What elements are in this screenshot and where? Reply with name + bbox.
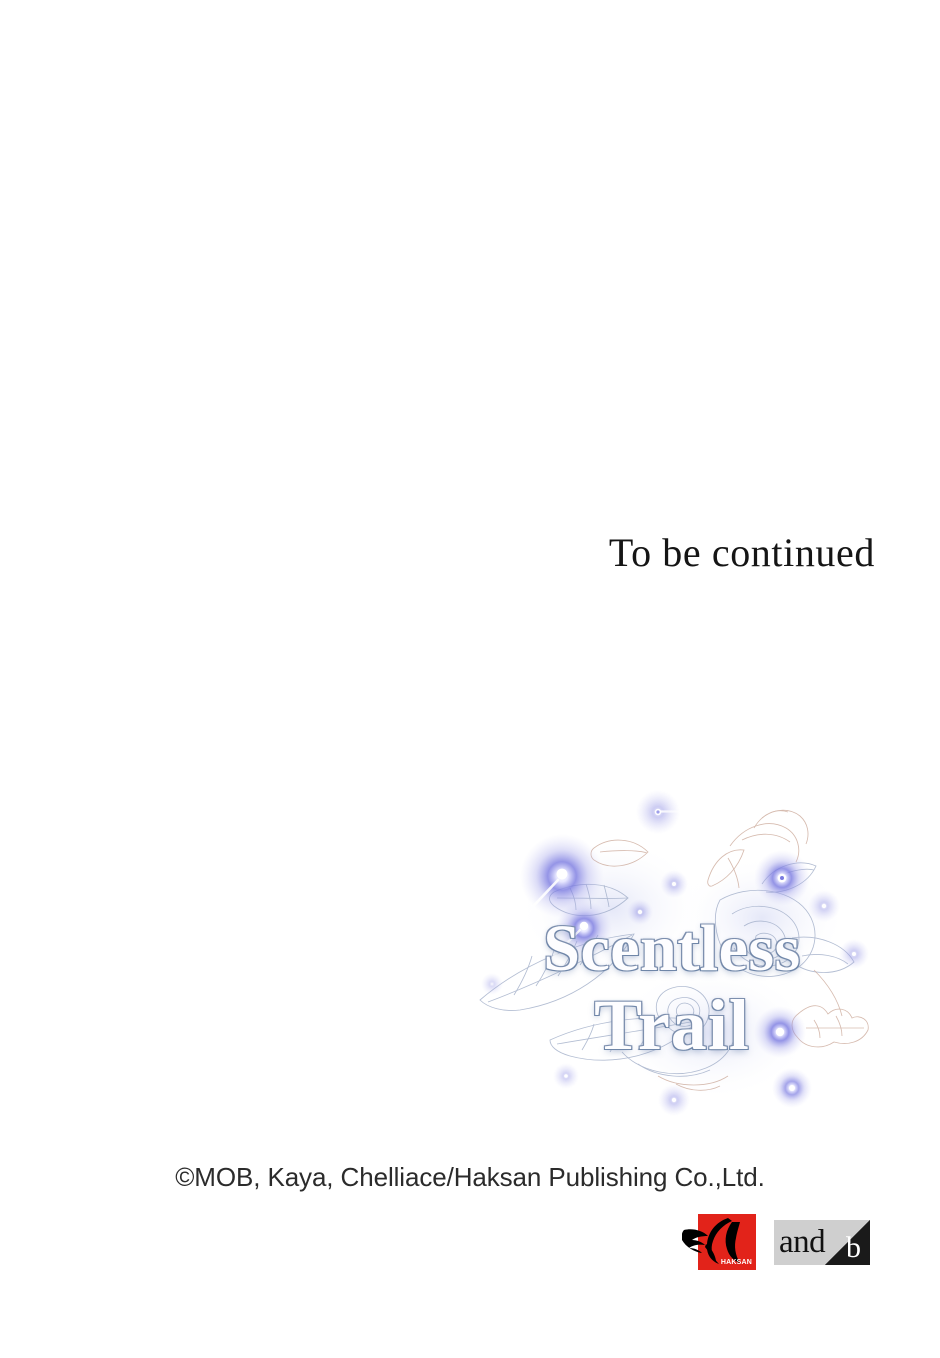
- and-b-logo: and b: [774, 1220, 870, 1265]
- and-b-and-text: and: [779, 1221, 825, 1264]
- sparkle: [754, 1006, 806, 1058]
- sparkle: [627, 899, 653, 925]
- haksan-wordmark: HAKSAN: [721, 1259, 752, 1267]
- sparkle: [553, 1063, 579, 1089]
- publisher-logos: HAKSAN and b: [698, 1212, 870, 1272]
- sparkle: [772, 1068, 812, 1108]
- sparkle: [658, 1084, 690, 1116]
- and-b-b-text: b: [846, 1230, 861, 1265]
- series-logo-artwork: [462, 788, 882, 1128]
- sparkle: [660, 870, 688, 898]
- sparkle: [754, 850, 810, 906]
- sparkle: [636, 790, 702, 834]
- sparkle: [808, 890, 840, 922]
- sparkle: [839, 939, 869, 969]
- haksan-logo: HAKSAN: [698, 1214, 756, 1270]
- comic-end-page: To be continued: [0, 0, 940, 1358]
- sparkle: [481, 973, 503, 995]
- to-be-continued-text: To be continued: [0, 528, 875, 578]
- series-logo: Scentless Trail: [462, 788, 882, 1128]
- copyright-text: ©MOB, Kaya, Chelliace/Haksan Publishing …: [0, 1160, 940, 1194]
